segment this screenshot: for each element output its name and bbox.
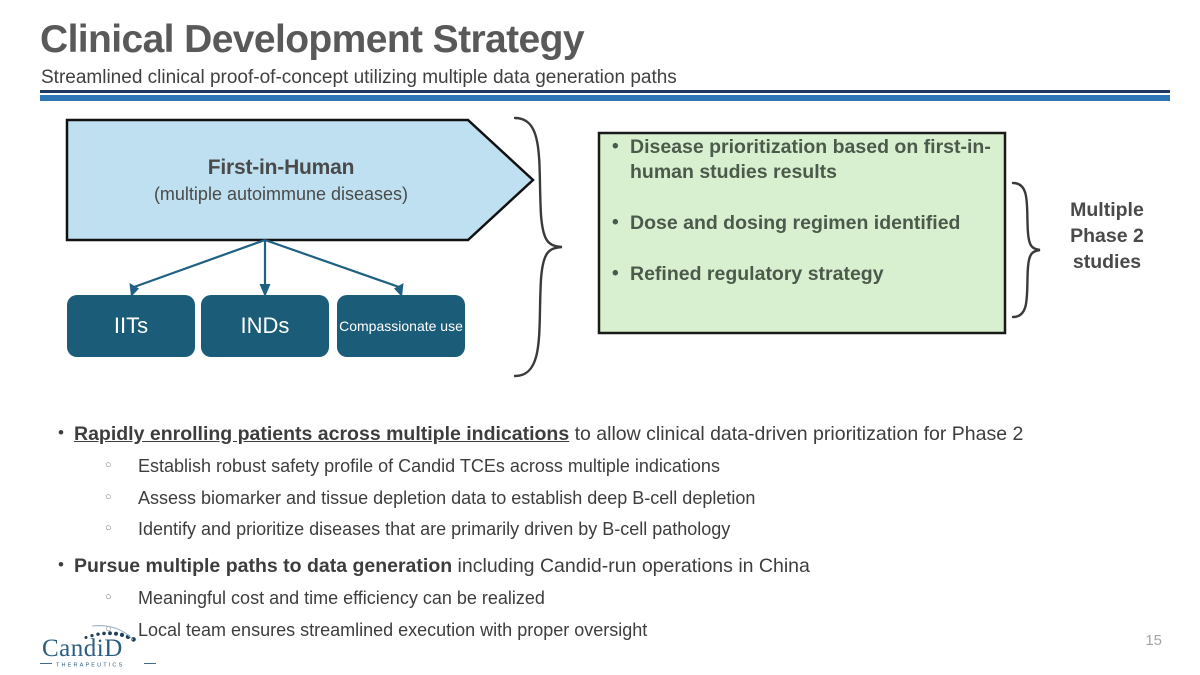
sub-bullet-marker-icon: ○ [105,487,138,508]
sub-bullet-marker-icon: ○ [105,455,138,476]
divider-line-blue [40,95,1170,101]
body-bullet-list: • Rapidly enrolling patients across mult… [58,422,1168,641]
sub-bullet-marker-icon: ○ [105,587,138,608]
page-title: Clinical Development Strategy [40,18,584,62]
sub-bullet-text: Meaningful cost and time efficiency can … [138,587,545,610]
bullet-lead-in: Pursue multiple paths to data generation [74,555,452,577]
sub-bullet-item: ○ Establish robust safety profile of Can… [105,455,1168,478]
first-in-human-title: First-in-Human [208,156,355,180]
right-brace-shape [1013,183,1040,317]
path-box-inds[interactable]: INDs [201,295,329,357]
bullet-item-text: Rapidly enrolling patients across multip… [74,422,1023,446]
multiple-phase-2-studies-label: Multiple Phase 2 studies [1052,198,1162,276]
sub-bullet-item: ○ Identify and prioritize diseases that … [105,518,1168,541]
bullet-item: • Rapidly enrolling patients across mult… [58,422,1168,446]
strategy-diagram: First-in-Human (multiple autoimmune dise… [0,105,1200,395]
bullet-marker-icon: • [612,211,630,235]
bullet-marker-icon: • [58,554,74,576]
sub-bullet-item: ○ Local team ensures streamlined executi… [105,619,1168,642]
sub-bullet-marker-icon: ○ [105,518,138,539]
candid-therapeutics-logo: CandiD THERAPEUTICS [34,623,166,669]
first-in-human-node: First-in-Human (multiple autoimmune dise… [66,120,496,240]
divider-line-navy [40,90,1170,93]
bullet-item: • Pursue multiple paths to data generati… [58,554,1168,578]
bullet-lead-in: Rapidly enrolling patients across multip… [74,423,569,445]
outcome-item-text: Refined regulatory strategy [630,262,884,287]
bullet-rest: to allow clinical data-driven prioritiza… [569,423,1023,445]
first-in-human-subtitle: (multiple autoimmune diseases) [154,184,408,205]
sub-bullet-item: ○ Meaningful cost and time efficiency ca… [105,587,1168,610]
sub-bullet-text: Identify and prioritize diseases that ar… [138,518,730,541]
header-divider [40,90,1170,101]
bullet-marker-icon: • [612,262,630,286]
path-box-iits[interactable]: IITs [67,295,195,357]
sub-bullet-text: Establish robust safety profile of Candi… [138,455,720,478]
sub-bullet-text: Assess biomarker and tissue depletion da… [138,487,755,510]
svg-text:CandiD: CandiD [42,635,123,662]
outcome-item: • Refined regulatory strategy [612,262,1002,287]
sub-bullet-text: Local team ensures streamlined execution… [138,619,647,642]
page-number: 15 [1145,632,1162,649]
bullet-marker-icon: • [612,135,630,159]
outcomes-list: • Disease prioritization based on first-… [612,131,1002,336]
outcome-item: • Dose and dosing regimen identified [612,211,1002,236]
bullet-group-spacer [58,541,1168,554]
outcome-item-text: Disease prioritization based on first-in… [630,135,1002,185]
svg-text:THERAPEUTICS: THERAPEUTICS [56,663,124,669]
page-subtitle: Streamlined clinical proof-of-concept ut… [41,67,677,89]
outcome-item-text: Dose and dosing regimen identified [630,211,960,236]
bullet-item-text: Pursue multiple paths to data generation… [74,554,810,578]
bullet-marker-icon: • [58,422,74,444]
bullet-rest: including Candid-run operations in China [452,555,810,577]
sub-bullet-item: ○ Assess biomarker and tissue depletion … [105,487,1168,510]
path-box-compassionate-use[interactable]: Compassionate use [337,295,465,357]
left-brace-shape [515,118,562,376]
outcome-item: • Disease prioritization based on first-… [612,135,1002,185]
